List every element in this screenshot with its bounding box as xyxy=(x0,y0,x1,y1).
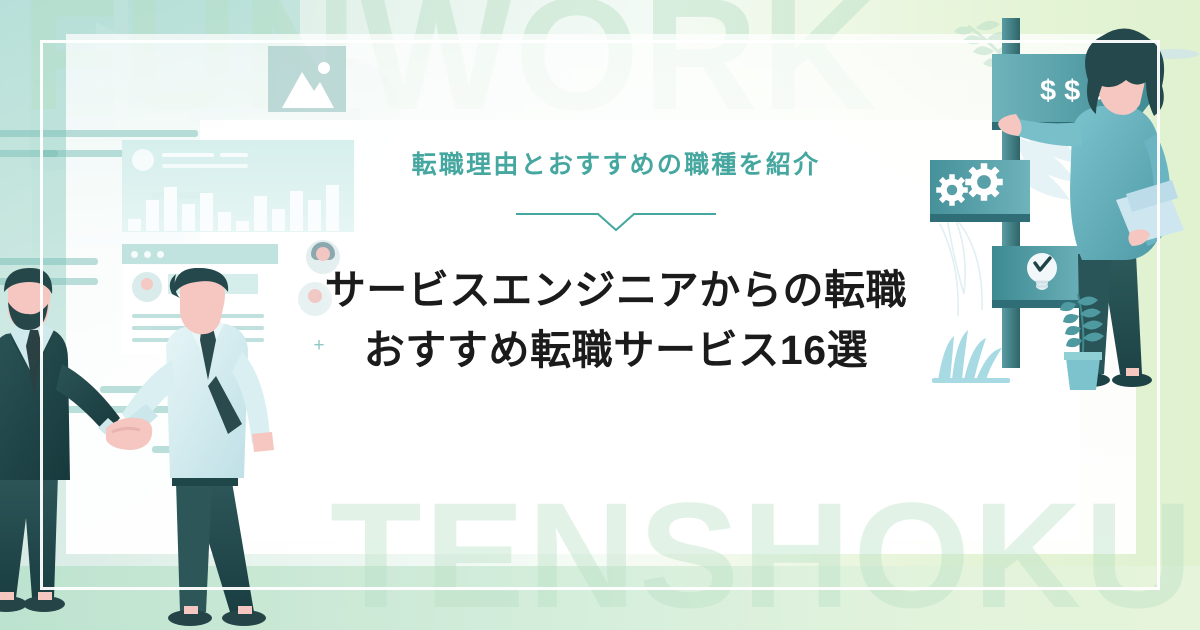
hero-subtitle: 転職理由とおすすめの職種を紹介 xyxy=(412,152,821,180)
page-title-line2: おすすめ転職サービス16選 xyxy=(325,320,908,380)
hero-text-block: 転職理由とおすすめの職種を紹介 サービスエンジニアからの転職 おすすめ転職サービ… xyxy=(0,152,1200,380)
page-title: サービスエンジニアからの転職 おすすめ転職サービス16選 xyxy=(325,260,908,381)
page-title-line1: サービスエンジニアからの転職 xyxy=(325,267,908,313)
thumbnail-canvas: FUNWORK TENSHOKU xyxy=(0,0,1200,630)
divider-ornament xyxy=(516,208,716,234)
